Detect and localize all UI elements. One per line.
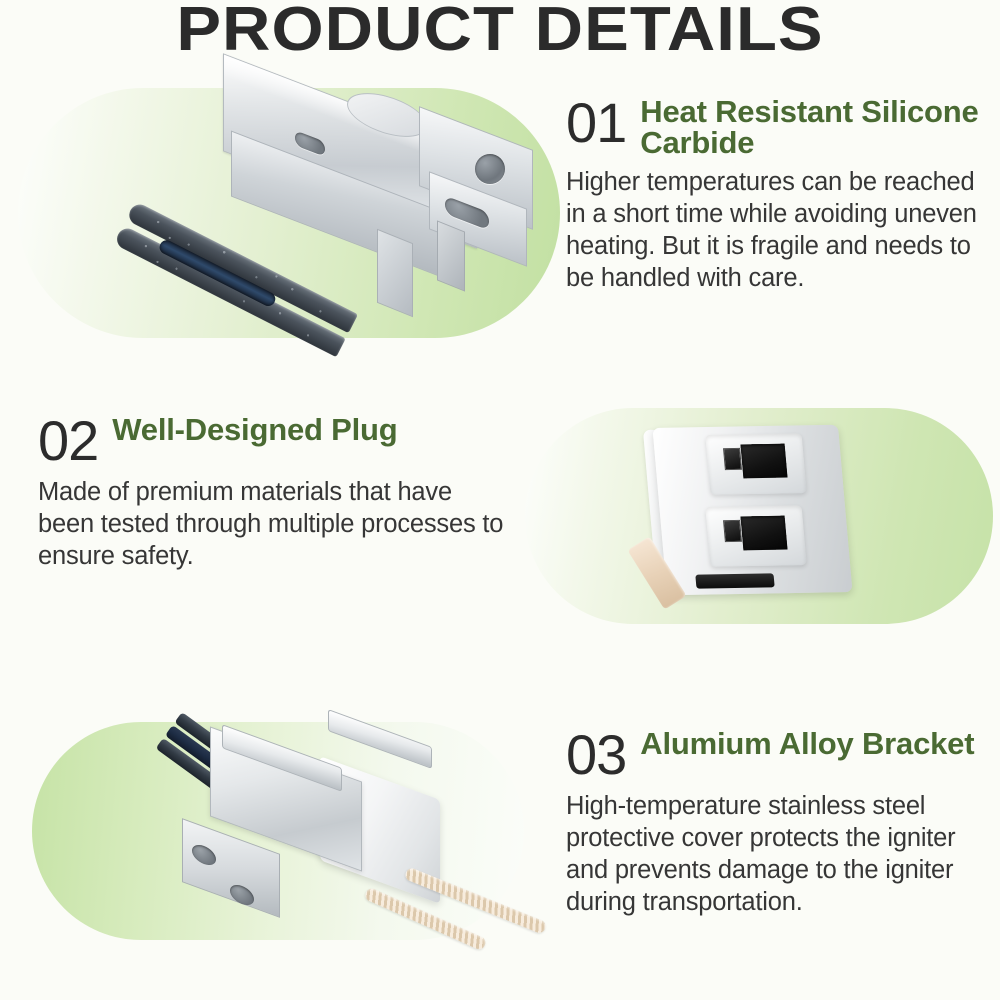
feature-01-heading-row: 01 Heat Resistant Silicone Carbide — [566, 94, 990, 158]
bracket-leg-right — [437, 220, 465, 291]
aluminum-bracket-image — [170, 718, 540, 948]
feature-03-text: 03 Alumium Alloy Bracket High-temperatur… — [566, 726, 990, 918]
feature-01-body: Higher temperatures can be reached in a … — [566, 166, 990, 294]
feature-01-text: 01 Heat Resistant Silicone Carbide Highe… — [566, 94, 990, 294]
product-details-infographic: PRODUCT DETAILS — [0, 0, 1000, 1000]
feature-03-body: High-temperature stainless steel protect… — [566, 790, 990, 918]
feature-01-headline: Heat Resistant Silicone Carbide — [640, 94, 990, 158]
feature-02-number: 02 — [38, 414, 98, 468]
cover-rail-back — [328, 709, 432, 769]
plug-terminal-bottom — [740, 516, 787, 551]
plug-terminal-top — [740, 444, 787, 479]
plug-latch — [695, 573, 774, 588]
feature-02-heading-row: 02 Well-Designed Plug — [38, 412, 508, 468]
page-title: PRODUCT DETAILS — [0, 0, 1000, 62]
silicone-carbide-igniter-image — [95, 80, 525, 400]
bracket-leg-left — [377, 229, 413, 318]
feature-01-number: 01 — [566, 96, 626, 150]
connector-plug-image — [650, 420, 900, 620]
feature-03-number: 03 — [566, 728, 626, 782]
plug-pin-bottom — [723, 520, 742, 542]
bracket-mount-hole — [475, 154, 505, 184]
feature-03-heading-row: 03 Alumium Alloy Bracket — [566, 726, 990, 782]
feature-02-text: 02 Well-Designed Plug Made of premium ma… — [38, 412, 508, 572]
feature-02-body: Made of premium materials that have been… — [38, 476, 508, 572]
feature-03-headline: Alumium Alloy Bracket — [640, 726, 974, 759]
plug-pin-top — [723, 448, 742, 470]
feature-02-headline: Well-Designed Plug — [112, 412, 397, 445]
steel-bracket — [223, 86, 525, 316]
